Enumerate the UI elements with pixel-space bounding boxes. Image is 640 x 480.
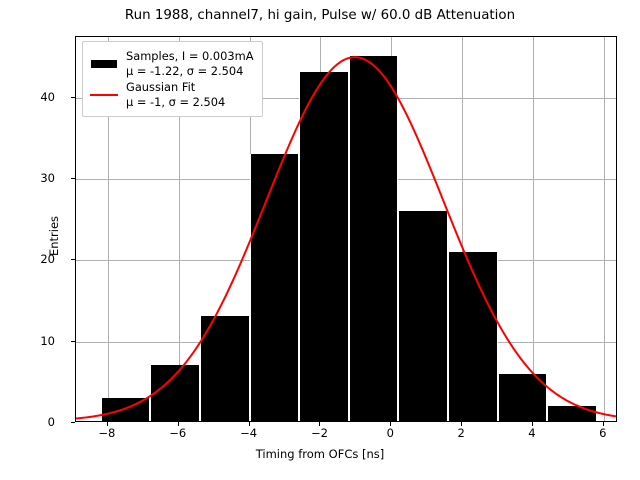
y-axis-label: Entries bbox=[47, 176, 61, 296]
legend-stats-samples: μ = -1.22, σ = 2.504 bbox=[126, 64, 254, 79]
y-tick-label: 20 bbox=[15, 252, 55, 266]
x-tick-label: 2 bbox=[457, 426, 464, 440]
x-tick-label: −8 bbox=[98, 426, 115, 440]
y-tick-label: 30 bbox=[15, 171, 55, 185]
x-tick-label: 0 bbox=[387, 426, 394, 440]
x-tick-label: 4 bbox=[528, 426, 535, 440]
x-tick-label: −4 bbox=[240, 426, 257, 440]
y-tick-label: 0 bbox=[15, 415, 55, 429]
x-tick-label: 6 bbox=[599, 426, 606, 440]
y-tick-label: 10 bbox=[15, 334, 55, 348]
legend-label-samples: Samples, I = 0.003mA bbox=[126, 49, 254, 63]
y-tick-mark bbox=[71, 422, 75, 423]
legend-key-patch bbox=[89, 53, 119, 75]
x-axis-label: Timing from OFCs [ns] bbox=[0, 447, 640, 461]
chart-title: Run 1988, channel7, hi gain, Pulse w/ 60… bbox=[0, 8, 640, 23]
legend-label-fit: Gaussian Fit bbox=[126, 80, 195, 94]
x-tick-label: −6 bbox=[169, 426, 186, 440]
x-tick-label: −2 bbox=[311, 426, 328, 440]
y-tick-mark bbox=[71, 97, 75, 98]
legend-key-line bbox=[89, 84, 119, 106]
y-tick-mark bbox=[71, 341, 75, 342]
y-tick-mark bbox=[71, 259, 75, 260]
legend: Samples, I = 0.003mA μ = -1.22, σ = 2.50… bbox=[82, 41, 263, 117]
legend-item-samples: Samples, I = 0.003mA μ = -1.22, σ = 2.50… bbox=[89, 49, 254, 78]
legend-item-fit: Gaussian Fit μ = -1, σ = 2.504 bbox=[89, 80, 254, 109]
legend-stats-fit: μ = -1, σ = 2.504 bbox=[126, 95, 225, 110]
histogram-figure: Run 1988, channel7, hi gain, Pulse w/ 60… bbox=[0, 0, 640, 480]
y-tick-label: 40 bbox=[15, 90, 55, 104]
y-tick-mark bbox=[71, 178, 75, 179]
